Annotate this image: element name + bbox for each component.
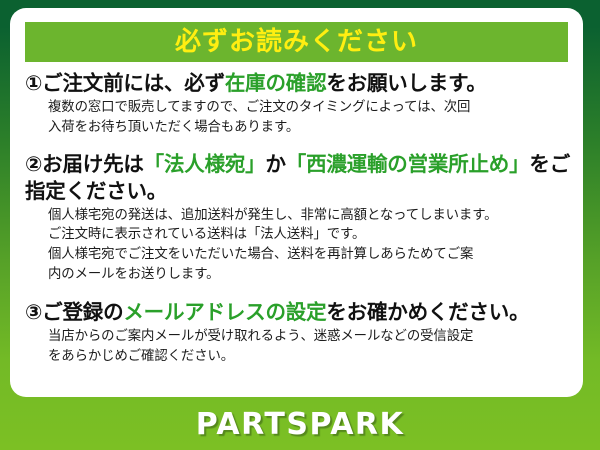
notice-item-2-body-line-1: 個人様宅宛の発送は、追加送料が発生し、非常に高額となってしまいます。	[48, 206, 569, 226]
notice-item-1-heading: ①ご注文前には、必ず在庫の確認をお願いします。	[10, 70, 583, 96]
notice-item-3-body-line-1: 当店からのご案内メールが受け取れるよう、迷惑メールなどの受信設定	[48, 327, 569, 347]
brand-logo-text: PARTSPARK	[196, 410, 405, 440]
notice-item-3-heading: ③ご登録のメールアドレスの設定をお確かめください。	[10, 299, 583, 325]
notice-item-2-body-line-3: 個人様宅宛でご注文をいただいた場合、送料を再計算しあらためてご案	[48, 245, 569, 265]
notice-banner: 必ずお読みください ①ご注文前には、必ず在庫の確認をお願いします。 複数の窓口で…	[0, 0, 600, 450]
notice-item-1-heading-highlight: 在庫の確認	[225, 71, 327, 95]
title-bar: 必ずお読みください	[25, 22, 568, 62]
notice-item-1-marker: ①	[25, 71, 42, 95]
notice-item-3-body-line-2: をあらかじめご確認ください。	[48, 347, 569, 367]
notice-sections: ①ご注文前には、必ず在庫の確認をお願いします。 複数の窓口で販売してますので、ご…	[10, 68, 583, 368]
notice-item-1-body: 複数の窓口で販売してますので、ご注文のタイミングによっては、次回 入荷をお待ち頂…	[10, 96, 583, 137]
notice-item-3-body: 当店からのご案内メールが受け取れるよう、迷惑メールなどの受信設定 をあらかじめご…	[10, 325, 583, 366]
notice-item-2-body: 個人様宅宛の発送は、追加送料が発生し、非常に高額となってしまいます。 ご注文時に…	[10, 204, 583, 284]
notice-item-3-heading-part-1: ご登録の	[42, 300, 123, 324]
notice-item-2-heading-highlight-2: 「西濃運輸の営業所止め」	[286, 152, 530, 176]
notice-item-2-heading-part-3: か	[265, 152, 285, 176]
notice-item-3-marker: ③	[25, 300, 42, 324]
notice-item-3-heading-part-3: をお確かめください。	[326, 300, 529, 324]
notice-item-3: ③ご登録のメールアドレスの設定をお確かめください。 当店からのご案内メールが受け…	[10, 286, 583, 366]
notice-item-2-marker: ②	[25, 152, 42, 176]
footer-bar: PARTSPARK	[0, 399, 600, 450]
notice-card: 必ずお読みください ①ご注文前には、必ず在庫の確認をお願いします。 複数の窓口で…	[10, 8, 583, 397]
notice-item-3-heading-highlight: メールアドレスの設定	[123, 300, 326, 324]
notice-item-1-heading-part-1: ご注文前には、必ず	[42, 71, 225, 95]
notice-item-1-body-line-1: 複数の窓口で販売してますので、ご注文のタイミングによっては、次回	[48, 98, 569, 118]
notice-item-2: ②お届け先は「法人様宛」か「西濃運輸の営業所止め」をご指定ください。 個人様宅宛…	[10, 139, 583, 284]
notice-item-1-body-line-2: 入荷をお待ち頂いただく場合もあります。	[48, 118, 569, 138]
notice-item-2-heading-highlight-1: 「法人様宛」	[144, 152, 266, 176]
notice-item-2-body-line-4: 内のメールをお送りします。	[48, 265, 569, 285]
notice-item-2-heading: ②お届け先は「法人様宛」か「西濃運輸の営業所止め」をご指定ください。	[10, 151, 583, 203]
notice-item-2-heading-part-1: お届け先は	[42, 152, 144, 176]
notice-item-1: ①ご注文前には、必ず在庫の確認をお願いします。 複数の窓口で販売してますので、ご…	[10, 68, 583, 137]
notice-item-1-heading-part-3: をお願いします。	[326, 71, 486, 95]
notice-item-2-body-line-2: ご注文時に表示されている送料は「法人送料」です。	[48, 225, 569, 245]
page-title: 必ずお読みください	[175, 29, 418, 55]
